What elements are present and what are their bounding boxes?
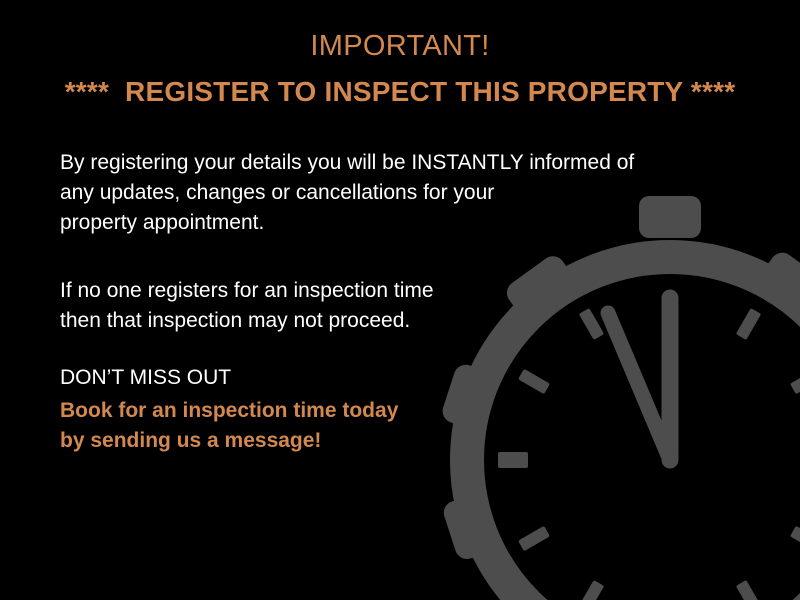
slide-canvas: IMPORTANT! **** REGISTER TO INSPECT THIS… [0, 0, 800, 600]
text-layer: IMPORTANT! **** REGISTER TO INSPECT THIS… [0, 0, 800, 600]
cta-dont-miss-out: DON’T MISS OUT [60, 363, 231, 393]
paragraph-no-registration-warning: If no one registers for an inspection ti… [60, 276, 620, 336]
cta-send-message: by sending us a message! [60, 426, 580, 456]
paragraph-registering-benefits: By registering your details you will be … [60, 148, 720, 238]
headline-important: IMPORTANT! [0, 30, 800, 63]
headline-register-to-inspect: **** REGISTER TO INSPECT THIS PROPERTY *… [0, 76, 800, 108]
cta-book-inspection: Book for an inspection time today [60, 396, 580, 426]
